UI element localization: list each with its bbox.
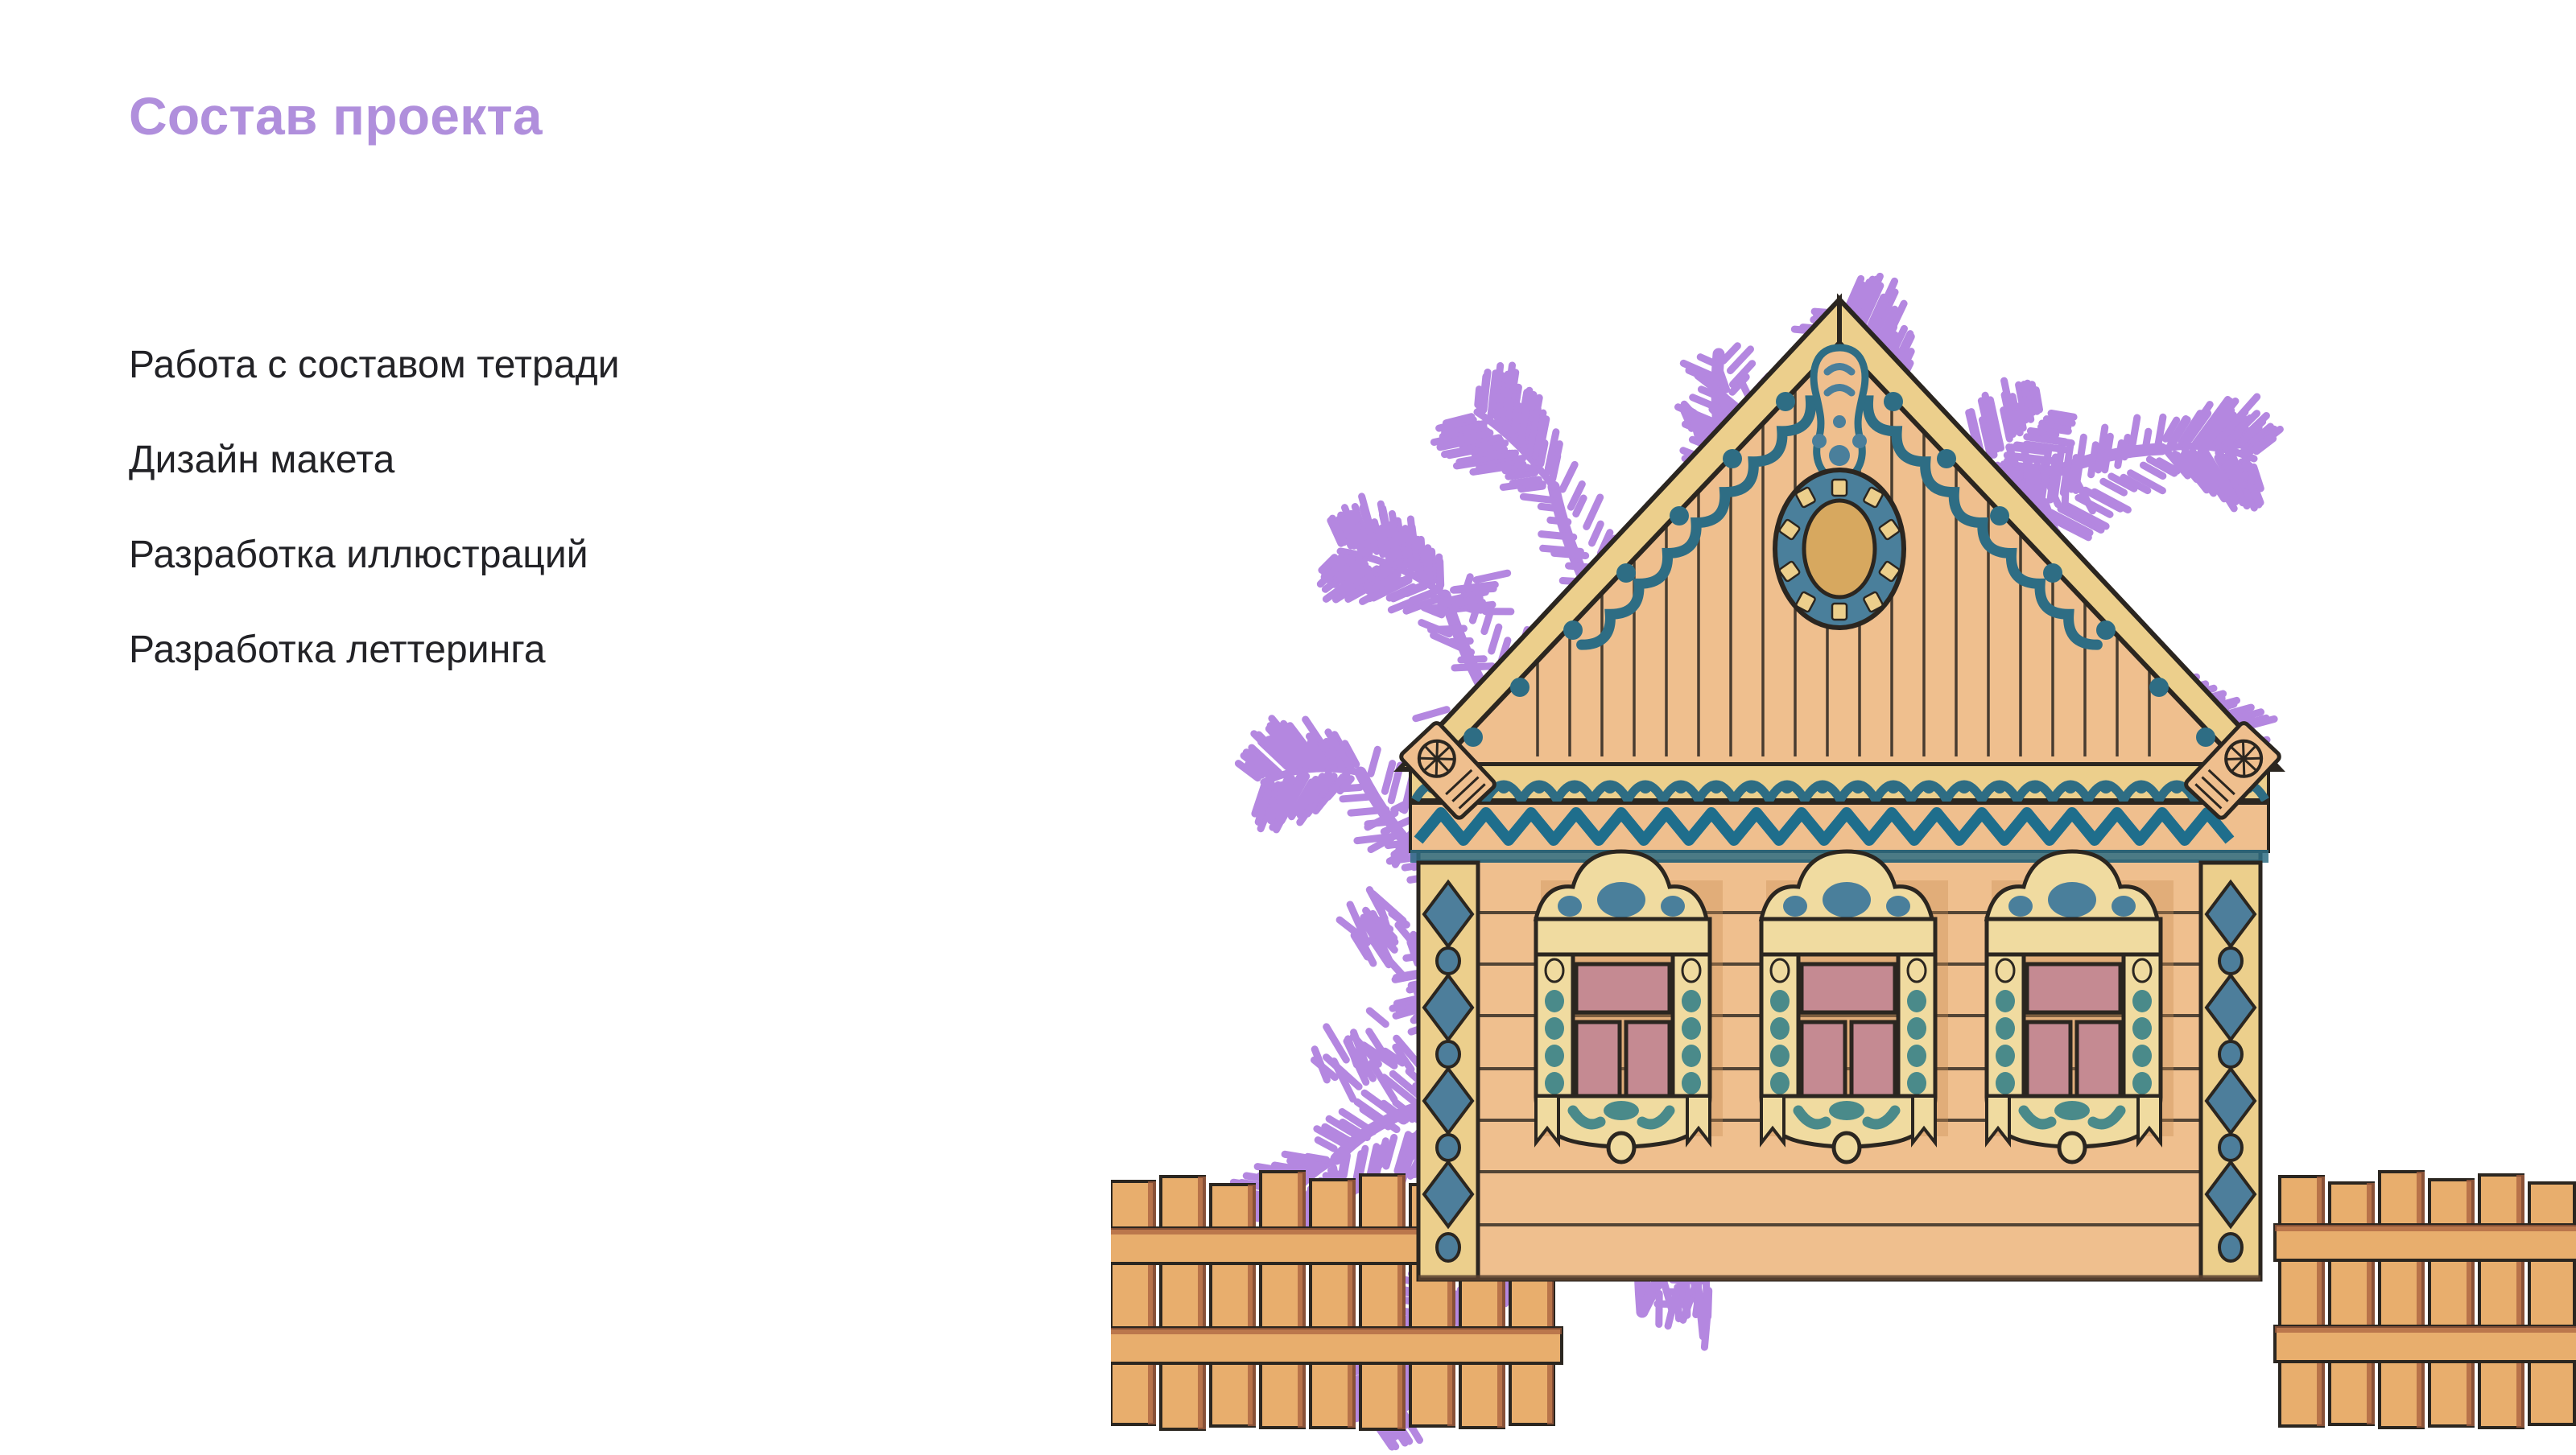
cornice [1410,765,2268,863]
text-column: Состав проекта Работа с составом тетради… [129,87,1095,146]
gable-medallion [1775,470,1904,628]
list-item: Разработка леттеринга [129,603,620,698]
house [1399,201,2281,1280]
page-title: Состав проекта [129,87,1095,146]
illustration-house-and-tree [1111,201,2576,1455]
list-item: Дизайн макета [129,413,620,508]
list-item: Работа с составом тетради [129,318,620,413]
corner-pilaster-right [2201,863,2260,1280]
corner-pilaster-left [1418,863,1478,1280]
fence-right [2275,1172,2576,1428]
project-scope-list: Работа с составом тетради Дизайн макета … [129,318,620,698]
slide: Состав проекта Работа с составом тетради… [0,0,2576,1455]
list-item: Разработка иллюстраций [129,508,620,603]
apex-finial [1812,348,1867,480]
window [1536,851,2173,1162]
